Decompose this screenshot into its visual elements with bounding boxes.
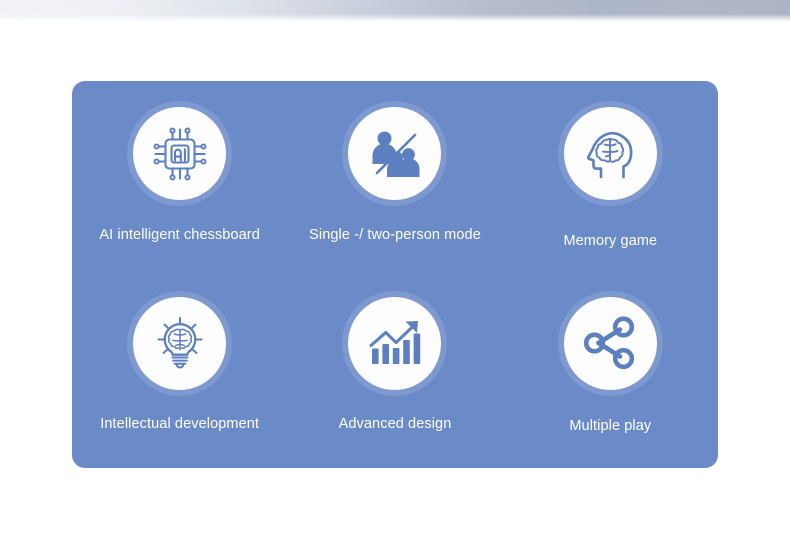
- feature-icon-circle: [133, 107, 226, 200]
- feature-item-intellectual-development[interactable]: Intellectual development: [72, 275, 287, 469]
- feature-icon-circle: [564, 107, 657, 200]
- feature-icon-circle: [133, 297, 226, 390]
- share-nodes-icon: [579, 312, 641, 374]
- feature-item-player-mode[interactable]: Single -/ two-person mode: [287, 81, 502, 275]
- feature-label: Memory game: [563, 233, 657, 250]
- feature-label: Advanced design: [339, 416, 452, 433]
- feature-label: AI intelligent chessboard: [99, 227, 260, 244]
- top-band-fade: [0, 14, 790, 23]
- ai-chip-icon: [149, 123, 211, 185]
- feature-item-multiple-play[interactable]: Multiple play: [503, 275, 718, 469]
- lightbulb-brain-icon: [149, 312, 211, 374]
- feature-item-ai-chessboard[interactable]: AI intelligent chessboard: [72, 81, 287, 275]
- growth-chart-icon: [364, 312, 426, 374]
- feature-panel: AI intelligent chessboard: [72, 81, 718, 468]
- feature-label: Single -/ two-person mode: [309, 227, 481, 244]
- feature-label: Multiple play: [569, 418, 651, 435]
- feature-item-memory-game[interactable]: Memory game: [503, 81, 718, 275]
- feature-item-advanced-design[interactable]: Advanced design: [287, 275, 502, 469]
- single-two-person-icon: [364, 123, 426, 185]
- feature-icon-circle: [564, 297, 657, 390]
- head-brain-icon: [579, 123, 641, 185]
- feature-label: Intellectual development: [100, 416, 259, 433]
- feature-grid: AI intelligent chessboard: [72, 81, 718, 468]
- feature-icon-circle: [348, 107, 441, 200]
- feature-icon-circle: [348, 297, 441, 390]
- product-feature-banner: AI intelligent chessboard: [0, 0, 790, 533]
